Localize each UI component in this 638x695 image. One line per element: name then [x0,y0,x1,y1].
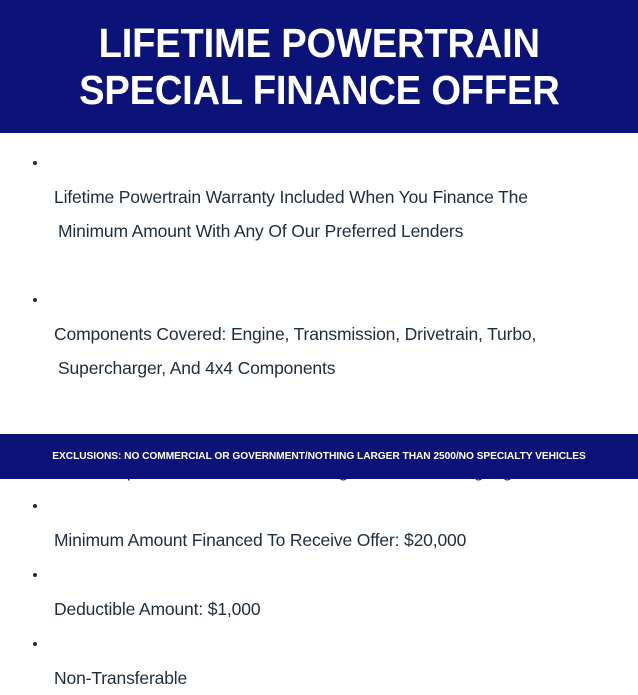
bullet-text-line-1: Lifetime Powertrain Warranty Included Wh… [54,187,528,207]
list-item: Minimum Amount Financed To Receive Offer… [27,489,626,557]
list-item: Deductible Amount: $1,000 [27,558,626,626]
bullet-content-area: Lifetime Powertrain Warranty Included Wh… [0,133,638,434]
bullet-text-line-1: Deductible Amount: $1,000 [54,599,260,619]
slide-root: LIFETIME POWERTRAIN SPECIAL FINANCE OFFE… [0,0,638,479]
bullet-text-line-1: Minimum Amount Financed To Receive Offer… [54,530,466,550]
bullet-text-line-1: Non-Transferable [54,668,187,688]
list-item: Components Covered: Engine, Transmission… [27,283,626,419]
slide-title-line-2: SPECIAL FINANCE OFFER [79,67,560,114]
bullet-text-line-2: Minimum Amount With Any Of Our Preferred… [54,214,626,248]
title-banner: LIFETIME POWERTRAIN SPECIAL FINANCE OFFE… [0,0,638,133]
bullet-text-line-2: Supercharger, And 4x4 Components [54,351,626,385]
list-item: Lifetime Powertrain Warranty Included Wh… [27,146,626,282]
exclusions-banner: EXCLUSIONS: NO COMMERCIAL OR GOVERNMENT/… [0,434,638,479]
bullet-list: Lifetime Powertrain Warranty Included Wh… [27,146,626,695]
list-item: Non-Transferable [27,627,626,695]
slide-title-line-1: LIFETIME POWERTRAIN [98,20,539,67]
exclusions-text: EXCLUSIONS: NO COMMERCIAL OR GOVERNMENT/… [52,450,585,463]
bullet-text-line-1: Components Covered: Engine, Transmission… [54,324,536,344]
